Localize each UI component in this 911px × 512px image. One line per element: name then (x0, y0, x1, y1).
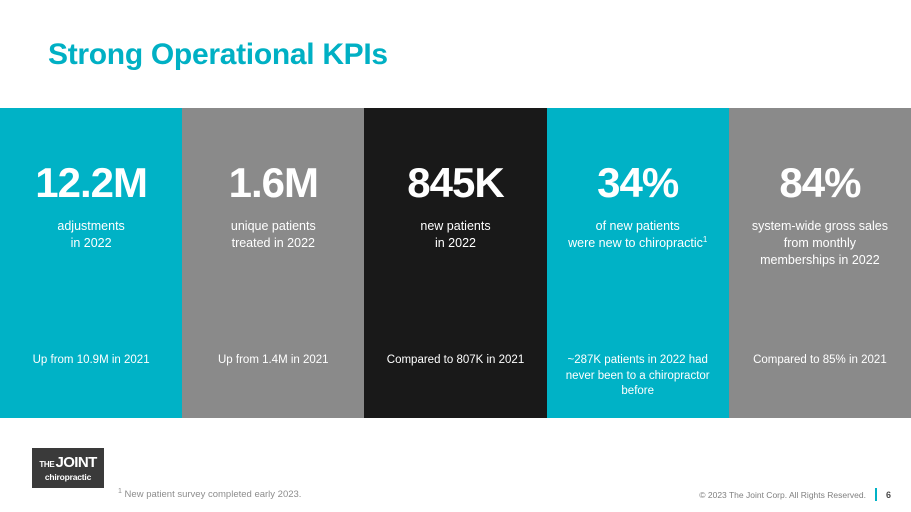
logo-tagline: chiropractic (45, 473, 91, 482)
kpi-card-new-patients: 845K new patients in 2022 Compared to 80… (364, 108, 546, 418)
kpi-label-line1: system-wide gross sales (752, 219, 888, 233)
footer-divider (875, 488, 877, 501)
page-title: Strong Operational KPIs (48, 38, 388, 72)
kpi-value: 34% (597, 162, 678, 204)
kpi-card-gross-sales: 84% system-wide gross sales from monthly… (729, 108, 911, 418)
logo-wordmark: THE JOINT (39, 455, 96, 470)
kpi-footer-note: Up from 10.9M in 2021 (8, 353, 174, 369)
kpi-label-line1: of new patients (596, 219, 680, 233)
kpi-value: 84% (779, 162, 860, 204)
kpi-label-line2: in 2022 (71, 236, 112, 250)
brand-logo: THE JOINT chiropractic (32, 448, 104, 488)
kpi-label: unique patients treated in 2022 (231, 218, 316, 252)
slide-footer-meta: © 2023 The Joint Corp. All Rights Reserv… (699, 488, 891, 501)
kpi-card-new-to-chiropractic: 34% of new patients were new to chiropra… (547, 108, 729, 418)
footnote-text: New patient survey completed early 2023. (125, 489, 302, 500)
kpi-label-superscript: 1 (703, 235, 707, 244)
kpi-label-line2: were new to chiropractic (568, 236, 703, 250)
kpi-label-line1: adjustments (57, 219, 124, 233)
logo-joint-text: JOINT (55, 455, 96, 470)
kpi-label: system-wide gross sales from monthly mem… (752, 218, 888, 269)
kpi-label-line2: in 2022 (435, 236, 476, 250)
kpi-label-line1: new patients (420, 219, 490, 233)
page-number: 6 (886, 490, 891, 500)
kpi-footer-note: ~287K patients in 2022 had never been to… (555, 353, 721, 400)
kpi-band: 12.2M adjustments in 2022 Up from 10.9M … (0, 108, 911, 418)
logo-the-text: THE (39, 461, 54, 469)
kpi-value: 12.2M (35, 162, 147, 204)
kpi-label-line1: unique patients (231, 219, 316, 233)
kpi-value: 845K (407, 162, 503, 204)
kpi-label-line2: treated in 2022 (232, 236, 315, 250)
kpi-card-adjustments: 12.2M adjustments in 2022 Up from 10.9M … (0, 108, 182, 418)
kpi-footer-note: Up from 1.4M in 2021 (190, 353, 356, 369)
kpi-value: 1.6M (229, 162, 318, 204)
footnote-marker: 1 (118, 488, 122, 495)
kpi-label-line3: memberships in 2022 (760, 253, 880, 267)
footnote: 1 New patient survey completed early 202… (118, 488, 301, 500)
kpi-label-line2: from monthly (784, 236, 856, 250)
kpi-footer-note: Compared to 807K in 2021 (372, 353, 538, 369)
slide-root: Strong Operational KPIs 12.2M adjustment… (0, 0, 911, 512)
kpi-footer-note: Compared to 85% in 2021 (737, 353, 903, 369)
kpi-label: new patients in 2022 (420, 218, 490, 252)
copyright-text: © 2023 The Joint Corp. All Rights Reserv… (699, 490, 866, 500)
kpi-label: adjustments in 2022 (57, 218, 124, 252)
kpi-card-unique-patients: 1.6M unique patients treated in 2022 Up … (182, 108, 364, 418)
kpi-label: of new patients were new to chiropractic… (568, 218, 707, 252)
